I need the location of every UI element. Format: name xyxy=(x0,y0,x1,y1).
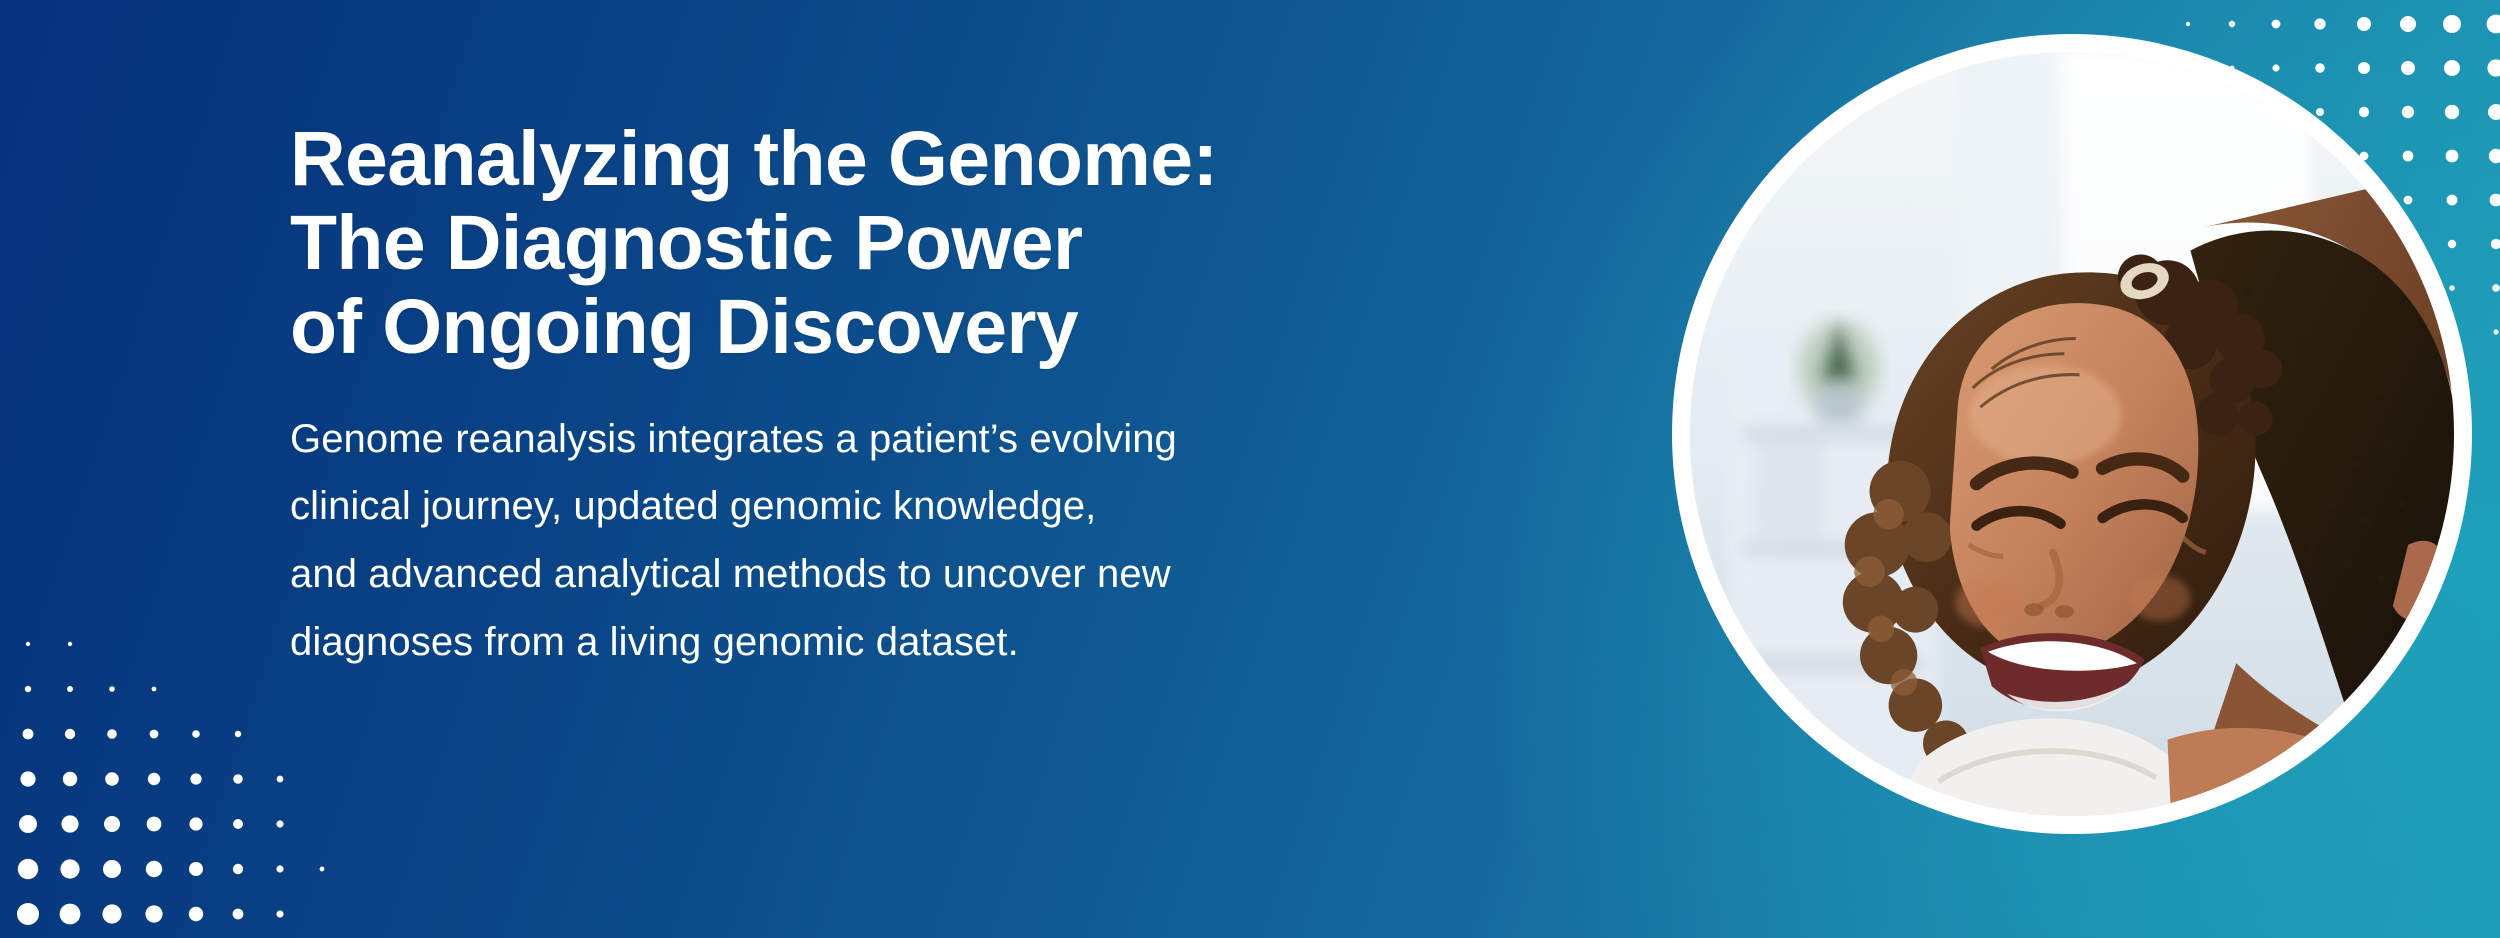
hero-banner: Reanalyzing the Genome: The Diagnostic P… xyxy=(0,0,2500,938)
hero-portrait-image xyxy=(1690,52,2454,816)
hero-portrait-frame xyxy=(1672,34,2472,834)
hero-copy: Reanalyzing the Genome: The Diagnostic P… xyxy=(290,118,1470,676)
page-title: Reanalyzing the Genome: The Diagnostic P… xyxy=(290,118,1470,370)
hero-description: Genome reanalysis integrates a patient’s… xyxy=(290,406,1470,676)
